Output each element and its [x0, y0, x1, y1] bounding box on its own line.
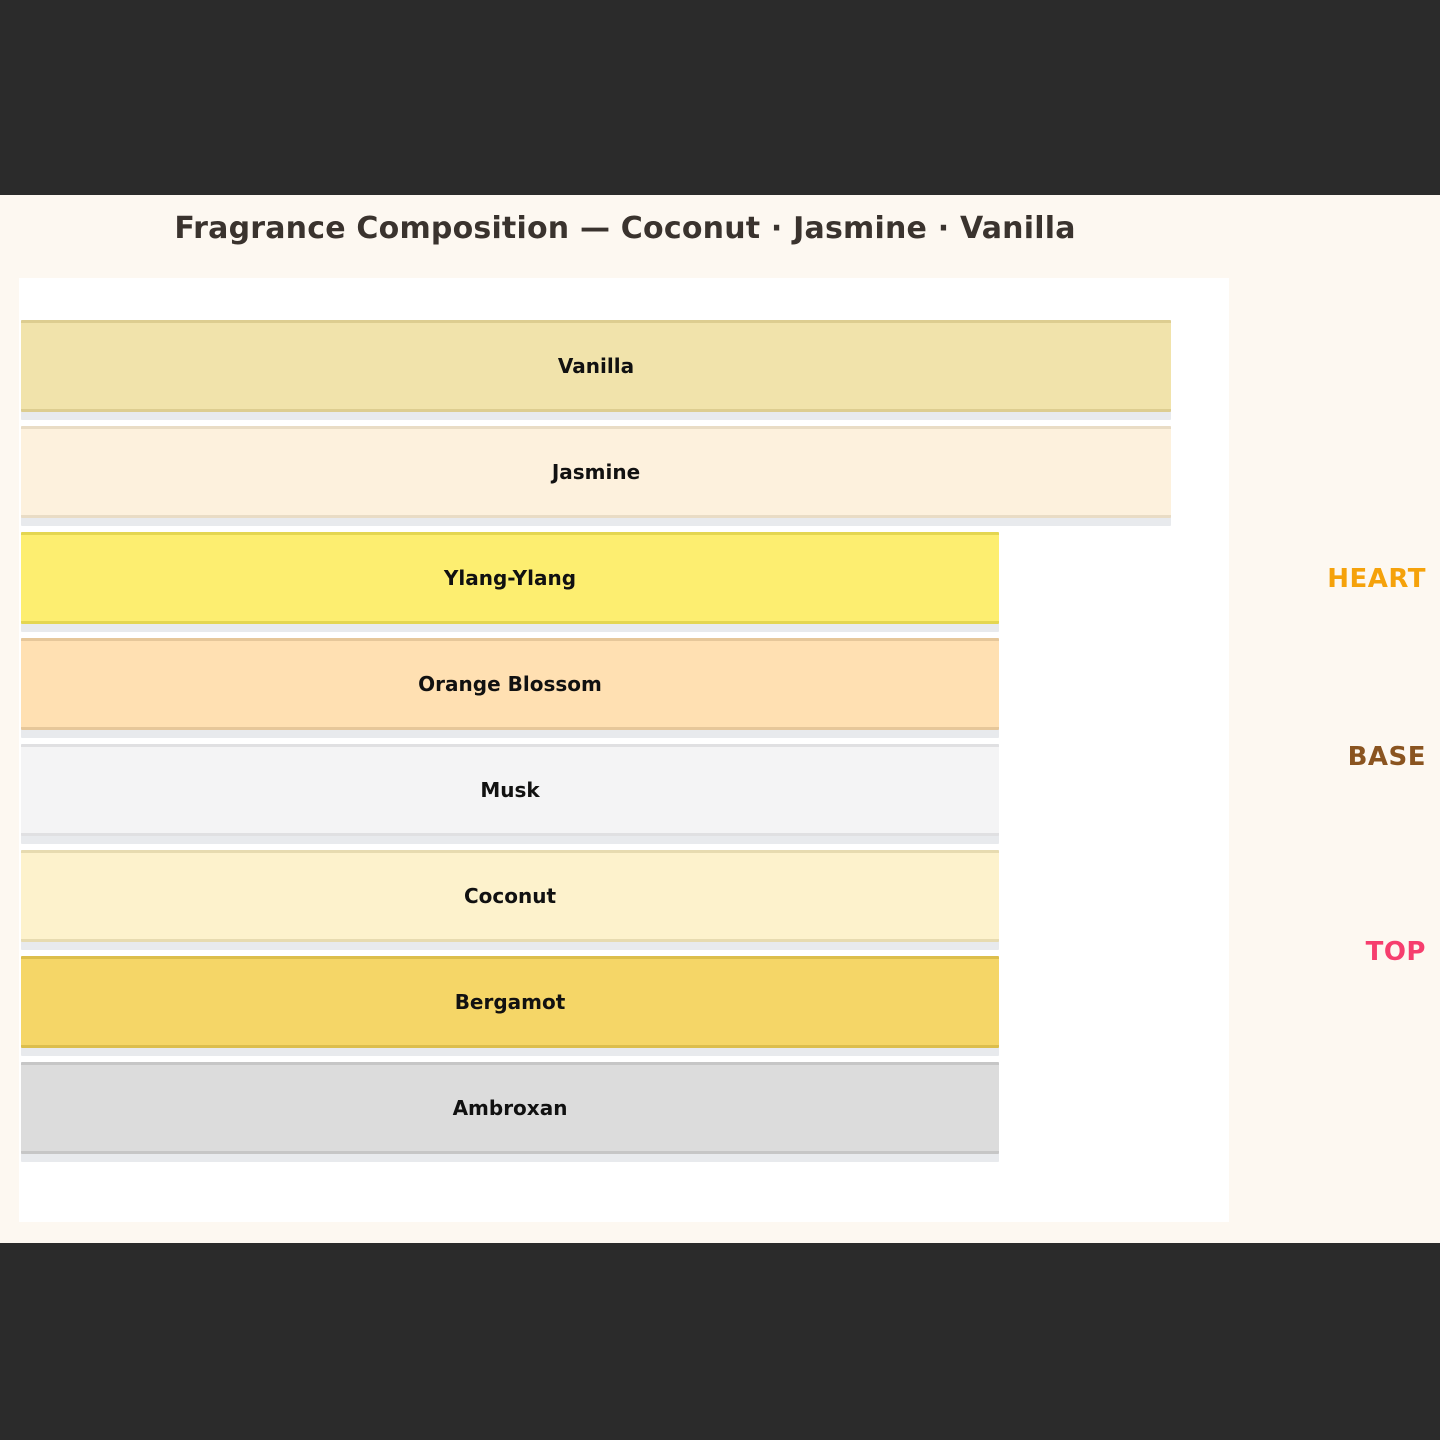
bar-coconut[interactable] [21, 850, 999, 942]
plot-area: VanillaJasmineYlang-YlangOrange BlossomM… [19, 278, 1229, 1222]
screenshot-root: Fragrance Composition — Coconut · Jasmin… [0, 0, 1440, 1440]
annotation-top: TOP [1366, 937, 1426, 967]
bar-row[interactable]: Orange Blossom [21, 638, 999, 738]
page-title: Fragrance Composition — Coconut · Jasmin… [0, 211, 1250, 246]
bar-row[interactable]: Bergamot [21, 956, 999, 1056]
bar-orange-blossom[interactable] [21, 638, 999, 730]
bar-row[interactable]: Jasmine [21, 426, 1171, 526]
bar-ylang-ylang[interactable] [21, 532, 999, 624]
bar-ambroxan[interactable] [21, 1062, 999, 1154]
bar-row[interactable]: Ambroxan [21, 1062, 999, 1162]
annotation-base: BASE [1348, 742, 1426, 772]
bar-row[interactable]: Musk [21, 744, 999, 844]
bar-jasmine[interactable] [21, 426, 1171, 518]
figure-panel: Fragrance Composition — Coconut · Jasmin… [0, 195, 1440, 1243]
annotation-heart: HEART [1327, 564, 1426, 594]
bar-musk[interactable] [21, 744, 999, 836]
bar-bergamot[interactable] [21, 956, 999, 1048]
bar-row[interactable]: Coconut [21, 850, 999, 950]
bar-row[interactable]: Vanilla [21, 320, 1171, 420]
bar-row[interactable]: Ylang-Ylang [21, 532, 999, 632]
bar-vanilla[interactable] [21, 320, 1171, 412]
